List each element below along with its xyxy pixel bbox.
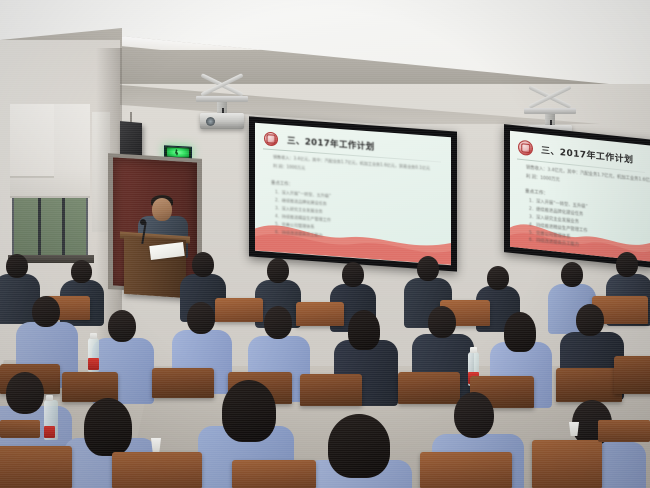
projector-lift-icon	[199, 72, 245, 98]
presenter-head	[152, 198, 172, 221]
slide-body-line: 重点工作：	[525, 188, 548, 196]
chair-back[interactable]	[152, 368, 214, 398]
projection-screen-right[interactable]: 三、2017年工作计划 销售收入：3.4亿元，其中：汽配业务1.7亿元，机加工业…	[504, 124, 650, 268]
chair-back[interactable]	[300, 374, 362, 406]
person-hair	[348, 310, 380, 350]
person-hair	[84, 398, 132, 456]
person-head	[264, 306, 292, 339]
chair-back[interactable]	[0, 446, 72, 488]
person-head	[487, 266, 509, 290]
chair-back[interactable]	[215, 298, 263, 322]
slide-left: 三、2017年工作计划 销售收入：3.4亿元，其中：汽配业务1.7亿元，机加工业…	[255, 123, 451, 265]
slide-right: 三、2017年工作计划 销售收入：3.4亿元，其中：汽配业务1.7亿元，机加工业…	[510, 131, 650, 262]
person-head	[267, 258, 289, 283]
person-head	[108, 310, 136, 342]
water-bottle[interactable]	[88, 338, 99, 372]
person-head	[6, 372, 44, 414]
chair-back[interactable]	[614, 356, 650, 394]
person-head	[71, 260, 92, 283]
person-head	[428, 306, 456, 338]
company-logo-icon	[264, 131, 278, 146]
person-hair	[328, 414, 390, 478]
microphone-capsule-icon	[140, 219, 146, 225]
chair-back[interactable]	[232, 460, 316, 488]
chair-back[interactable]	[420, 452, 512, 488]
wall-speaker-icon	[120, 121, 142, 158]
projector-lens-icon	[206, 117, 215, 126]
person-head	[561, 262, 583, 287]
person-head	[616, 252, 638, 277]
chair-back[interactable]	[112, 452, 202, 488]
chair-back[interactable]	[532, 440, 602, 488]
slide-body-line: 利 润：1000万元	[526, 173, 560, 183]
person-head	[342, 262, 364, 287]
chair-back[interactable]	[296, 302, 344, 326]
projector-body	[200, 113, 244, 129]
projector-lift-icon	[527, 84, 573, 110]
water-bottle[interactable]	[44, 400, 58, 440]
ceiling-projector-left	[192, 72, 252, 132]
slide-title: 三、2017年工作计划	[287, 134, 375, 152]
slide-body-line: 利 润：1000万元	[273, 163, 305, 171]
person-head	[454, 392, 494, 438]
person-head	[417, 256, 439, 281]
projection-screen-left[interactable]: 三、2017年工作计划 销售收入：3.4亿元，其中：汽配业务1.7亿元，机加工业…	[249, 116, 457, 271]
chair-back[interactable]	[556, 368, 622, 402]
person-hair	[222, 380, 276, 442]
person-head	[187, 302, 215, 334]
chair-armrest[interactable]	[598, 420, 650, 442]
person-head	[32, 296, 60, 327]
person-hair	[504, 312, 536, 352]
chair-back[interactable]	[398, 372, 460, 404]
person-head	[6, 254, 28, 278]
chair-armrest[interactable]	[0, 420, 40, 438]
person-head	[576, 304, 604, 336]
company-logo-icon	[518, 140, 533, 157]
slide-body-line: 重点工作：	[271, 180, 293, 188]
person-head	[192, 252, 214, 277]
window-blind-secondary[interactable]	[10, 104, 54, 178]
conference-room-photo: 三、2017年工作计划 销售收入：3.4亿元，其中：汽配业务1.7亿元，机加工业…	[0, 0, 650, 488]
